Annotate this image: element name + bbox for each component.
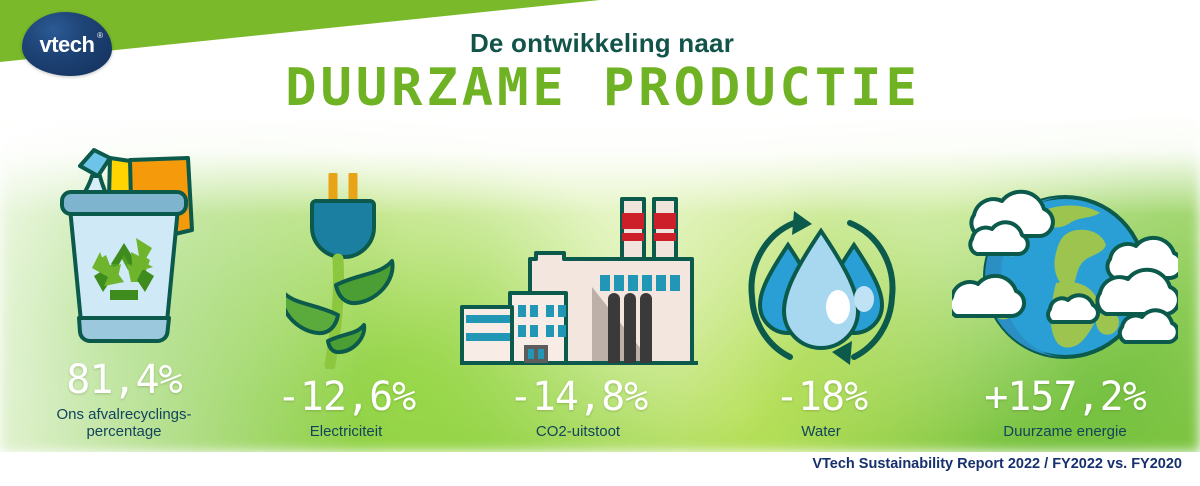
stat-label: CO2-uitstoot [536,423,620,441]
stat-label: Ons afvalrecyclings- percentage [56,406,191,441]
stat-item-waste-recycling: 81,4% Ons afvalrecyclings- percentage [0,96,248,441]
stat-value: -12,6% [277,377,416,417]
stat-label: Duurzame energie [1003,423,1126,441]
recycle-bin-icon [48,140,200,352]
stat-item-renewable-energy: +157,2% Duurzame energie [930,96,1200,441]
footer-source-text: VTech Sustainability Report 2022 / FY202… [812,456,1182,472]
water-drops-recycle-icon [742,205,900,369]
stat-value: +157,2% [984,377,1146,417]
stat-item-water: -18% Water [712,96,930,441]
stat-value: 81,4% [66,360,181,400]
stats-row: 81,4% Ons afvalrecyclings- percentage [0,96,1200,441]
stat-value: -14,8% [509,377,648,417]
globe-clouds-icon [952,187,1178,369]
stat-label-line1: Ons afvalrecyclings- [56,406,191,423]
stat-item-co2: -14,8% CO2-uitstoot [444,96,712,441]
stat-label-line2: percentage [86,423,161,440]
sustainability-infographic: vtech ® De ontwikkeling naar DUURZAME PR… [0,0,1200,486]
stat-value: -18% [775,377,867,417]
stat-label: Electriciteit [310,423,383,441]
factory-icon [452,187,704,369]
plant-plug-icon [286,173,406,369]
page-subtitle: De ontwikkeling naar [0,28,1200,59]
stat-label: Water [801,423,840,441]
stat-item-electricity: -12,6% Electriciteit [248,96,444,441]
